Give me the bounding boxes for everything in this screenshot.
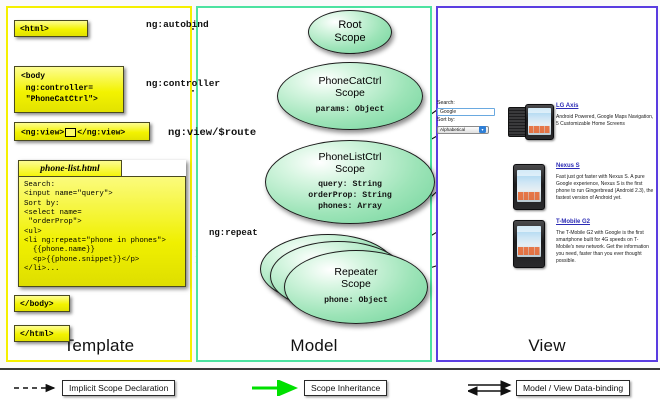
model-panel-label: Model — [198, 336, 430, 356]
scope-root: Root Scope — [308, 10, 392, 54]
list-item: T-Mobile G2 The T-Mobile G2 with Google … — [556, 219, 654, 265]
scope-root-name: Root Scope — [334, 19, 365, 44]
ngview-tag: <ng:view></ng:view> — [14, 122, 150, 141]
legend-label-inheritance: Scope Inheritance — [304, 380, 387, 396]
view-search-label: Search: — [437, 100, 499, 108]
screen-app-icons — [529, 126, 549, 133]
screen-app-icons — [518, 192, 539, 200]
phone-thumbnail-lg-axis — [508, 104, 552, 138]
phone-list-note-title: phone-list.html — [18, 160, 122, 177]
phone-snippet: Fast just got faster with Nexus S. A pur… — [556, 174, 654, 202]
phone-name-link[interactable]: T-Mobile G2 — [556, 219, 654, 227]
edge-label-controller: ng:controller — [146, 78, 220, 89]
phone-name-link[interactable]: Nexus S — [556, 163, 654, 171]
body-open-tag: <body ng:controller= "PhoneCatCtrl"> — [14, 66, 124, 113]
phone-thumbnail-tmobile-g2 — [513, 220, 543, 266]
edge-label-autobind: ng:autobind — [146, 19, 209, 30]
sort-select[interactable]: Alphabetical ▾ — [437, 126, 489, 135]
screen-statusbar — [528, 108, 551, 113]
phone-name-link[interactable]: LG Axis — [556, 103, 654, 111]
screen-app-icons — [518, 247, 539, 255]
edge-label-ngrepeat: ng:repeat — [209, 228, 258, 238]
view-panel-label: View — [438, 336, 656, 356]
ngview-slot-icon — [65, 128, 76, 137]
legend-icon-databinding — [468, 380, 514, 396]
phone-screen — [528, 108, 551, 135]
body-close-tag: </body> — [14, 295, 70, 312]
scope-repeater-name: Repeater Scope — [334, 267, 377, 291]
screen-statusbar — [517, 226, 541, 232]
legend-label-implicit: Implicit Scope Declaration — [62, 380, 175, 396]
scope-phonelistctrl-props: query: String orderProp: String phones: … — [308, 180, 392, 212]
html-close-tag: </html> — [14, 325, 70, 342]
scope-phonecatctrl: PhoneCatCtrl Scope params: Object — [277, 62, 423, 130]
search-input[interactable]: Google — [437, 108, 495, 116]
scope-phonecatctrl-props: params: Object — [316, 105, 385, 116]
view-sort-label: Sort by: — [437, 117, 499, 125]
legend-icon-inheritance — [252, 380, 300, 396]
legend: Implicit Scope Declaration Scope Inherit… — [0, 368, 660, 405]
scope-repeater-props: phone: Object — [324, 296, 388, 307]
phone-snippet: Android Powered, Google Maps Navigation,… — [556, 114, 654, 128]
list-item: Nexus S Fast just got faster with Nexus … — [556, 163, 654, 202]
legend-divider — [0, 368, 660, 370]
phone-list-template-note: phone-list.html Search: <input name="que… — [18, 160, 186, 287]
list-item: LG Axis Android Powered, Google Maps Nav… — [556, 103, 654, 128]
scope-repeater-stack: Repeater Scope phone: Object — [260, 234, 440, 326]
view-search-form: Search: Google Sort by: Alphabetical ▾ — [437, 100, 499, 134]
phone-screen — [517, 226, 541, 257]
scope-phonelistctrl: PhoneListCtrl Scope query: String orderP… — [265, 140, 435, 224]
scope-repeater-front: Repeater Scope phone: Object — [284, 250, 428, 324]
screen-statusbar — [517, 170, 541, 176]
legend-label-databinding: Model / View Data-binding — [516, 380, 630, 396]
ngview-close-text: </ng:view> — [77, 129, 125, 138]
phone-body — [525, 104, 554, 140]
edge-label-ngview-route: ng:view/$route — [168, 127, 256, 139]
phone-thumbnail-nexus-s — [513, 164, 543, 208]
chevron-down-icon: ▾ — [479, 126, 486, 133]
phone-screen — [517, 170, 541, 202]
html-open-tag: <html> — [14, 20, 88, 37]
scope-phonecatctrl-name: PhoneCatCtrl Scope — [318, 76, 381, 100]
legend-icon-implicit — [14, 380, 60, 396]
body-open-tag-text: <body ng:controller= "PhoneCatCtrl"> — [21, 72, 98, 104]
phone-list-note-code: Search: <input name="query"> Sort by: <s… — [18, 176, 186, 287]
phone-body — [513, 220, 545, 268]
sort-select-value: Alphabetical — [440, 127, 465, 132]
scope-phonelistctrl-name: PhoneListCtrl Scope — [318, 152, 381, 176]
diagram-canvas: Template <html> <body ng:controller= "Ph… — [0, 0, 660, 405]
ngview-open-text: <ng:view> — [21, 129, 64, 138]
phone-body — [513, 164, 545, 210]
phone-snippet: The T-Mobile G2 with Google is the first… — [556, 230, 654, 265]
